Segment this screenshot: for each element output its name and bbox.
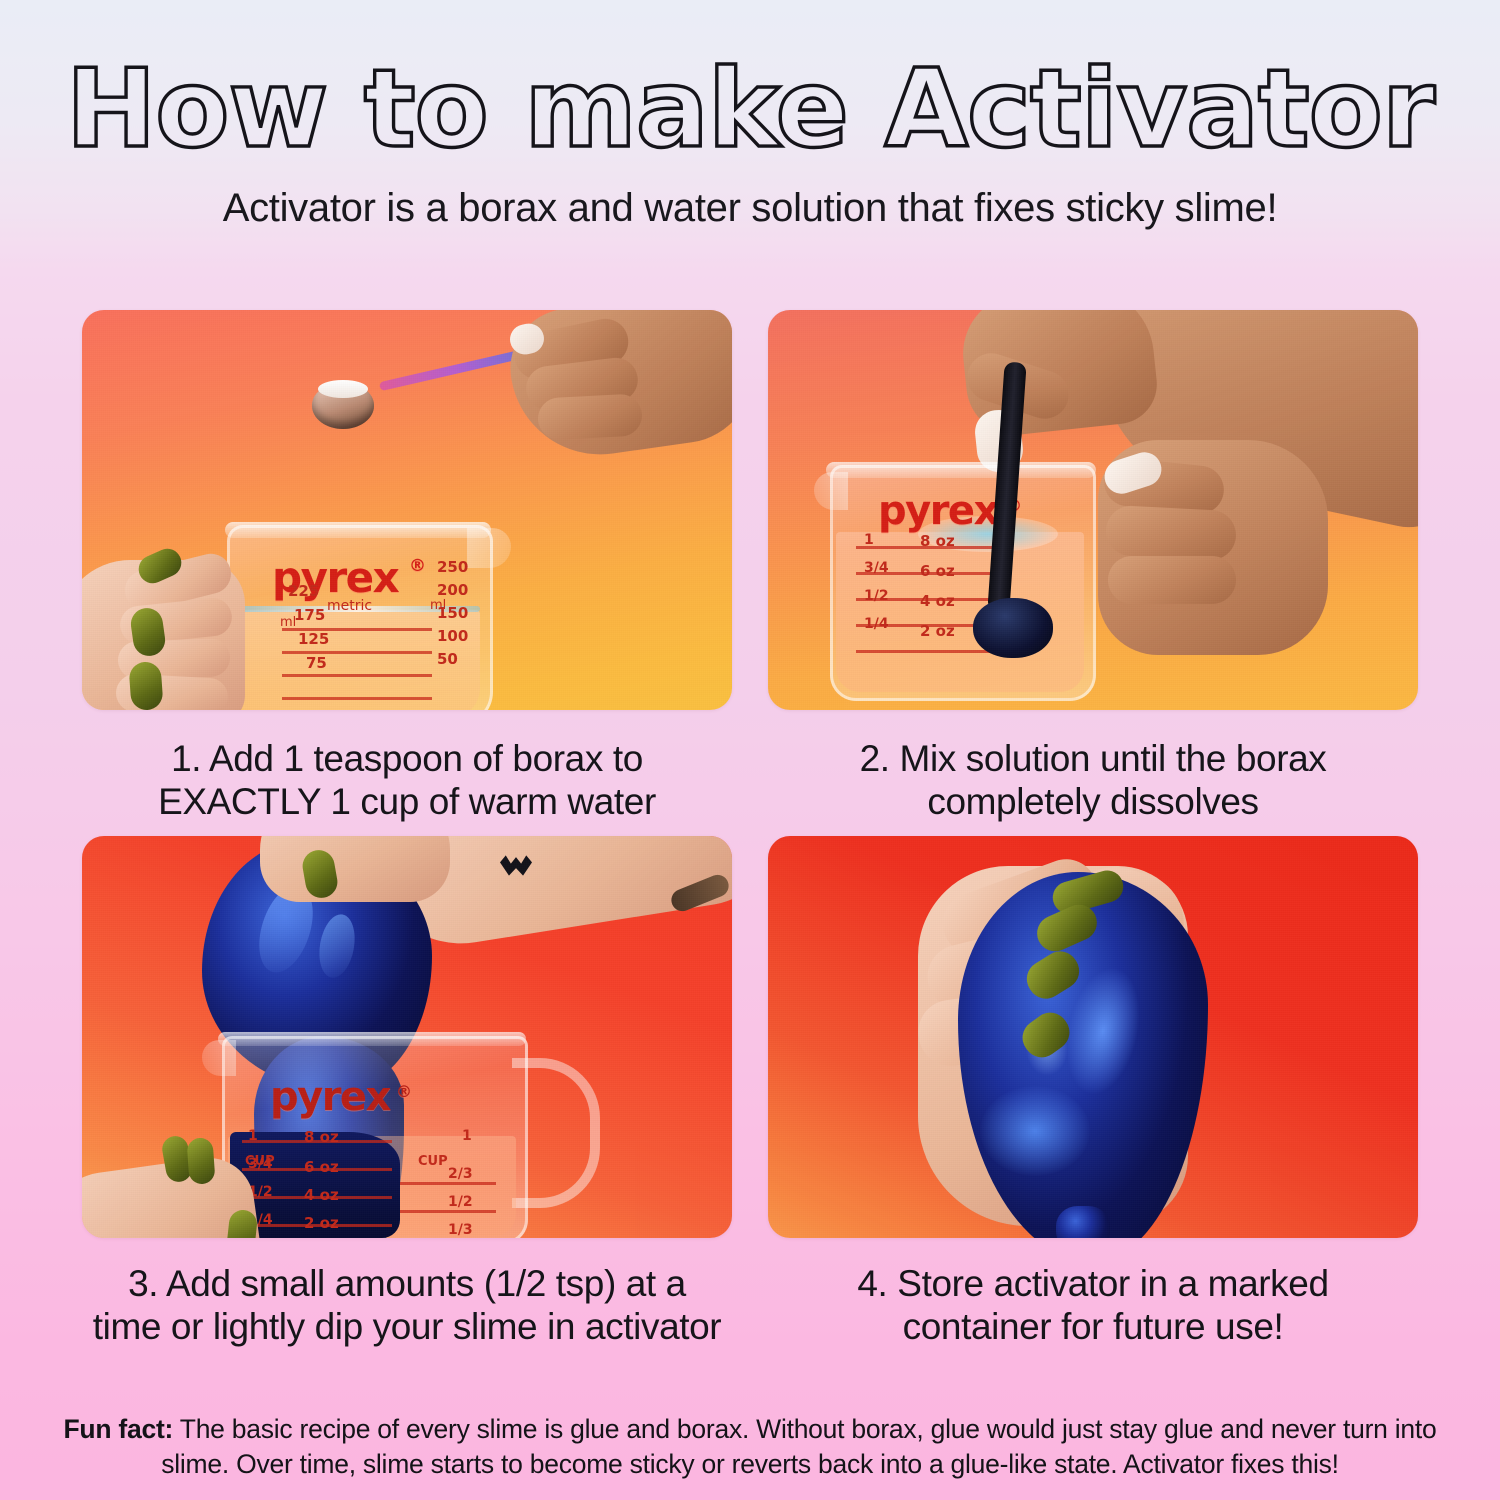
tick-mark	[282, 651, 432, 654]
step-3-caption-line-1: 3. Add small amounts (1/2 tsp) at a	[128, 1263, 686, 1304]
tick-mark	[400, 1182, 496, 1185]
tick-value-mirrored: 1	[248, 1128, 258, 1144]
finger-3	[537, 393, 643, 440]
cup-handle	[512, 1058, 600, 1208]
header: How to make Activator Activator is a bor…	[0, 0, 1500, 231]
tick-value-right: 1/3	[448, 1222, 473, 1238]
steps-grid: pyrex ® metric ml ml 250 200 150 100 50 …	[82, 310, 1418, 1360]
tick-value-mirrored: 3/4	[864, 560, 889, 576]
knuckle-3	[1108, 556, 1236, 604]
step-1-caption-line-2: EXACTLY 1 cup of warm water	[158, 781, 656, 822]
knuckle-2	[1105, 505, 1237, 562]
tick-value: 150	[437, 604, 468, 622]
tick-mark	[400, 1210, 496, 1213]
pyrex-registered-mark: ®	[409, 556, 425, 576]
tick-value: 4 oz	[920, 592, 955, 610]
step-2-caption-line-2: completely dissolves	[927, 781, 1258, 822]
pyrex-logo: pyrex	[878, 488, 998, 534]
step-3-caption-line-2: time or lightly dip your slime in activa…	[93, 1306, 721, 1347]
tick-value-mirrored: 175	[294, 606, 325, 624]
step-4-caption-line-1: 4. Store activator in a marked	[857, 1263, 1328, 1304]
step-2-caption: 2. Mix solution until the borax complete…	[768, 710, 1418, 836]
cup-rim	[826, 462, 1096, 478]
tick-value: 6 oz	[304, 1158, 339, 1176]
fingernail-green	[128, 661, 163, 710]
scale-label-metric: metric	[327, 598, 372, 614]
tick-value: 8 oz	[304, 1128, 339, 1146]
tick-value: 6 oz	[920, 562, 955, 580]
measuring-spoon-bowl	[973, 598, 1053, 658]
step-3: pyrex ® CUP CUP 8 oz 6 oz 4 oz 2 oz 1 3/…	[82, 836, 732, 1361]
tick-value-mirrored: 125	[298, 630, 329, 648]
tick-value: 100	[437, 627, 468, 645]
cup-label-right: CUP	[418, 1154, 448, 1169]
step-4: 4. Store activator in a marked container…	[768, 836, 1418, 1361]
tick-mark	[856, 650, 1006, 653]
tick-mark	[282, 697, 432, 700]
cup-rim	[225, 522, 491, 538]
tick-value-mirrored: 1/4	[864, 616, 889, 632]
tick-value-right: 2/3	[448, 1166, 473, 1182]
infographic-page: How to make Activator Activator is a bor…	[0, 0, 1500, 1500]
tick-value-right: 1	[462, 1128, 472, 1144]
tick-value-mirrored: 1	[864, 532, 874, 548]
tick-value-right: 1/2	[448, 1194, 473, 1210]
tick-value: 4 oz	[304, 1186, 339, 1204]
slime-tail	[1056, 1206, 1110, 1238]
tick-value: 2 oz	[304, 1214, 339, 1232]
step-1: pyrex ® metric ml ml 250 200 150 100 50 …	[82, 310, 732, 836]
cup-rim	[218, 1032, 526, 1046]
page-title: How to make Activator	[0, 0, 1500, 164]
step-4-photo	[768, 836, 1418, 1238]
tick-value-mirrored: 75	[306, 654, 327, 672]
tick-value: 2 oz	[920, 622, 955, 640]
pyrex-registered-mark: ®	[396, 1082, 411, 1101]
tick-mark	[282, 674, 432, 677]
step-1-photo: pyrex ® metric ml ml 250 200 150 100 50 …	[82, 310, 732, 710]
page-subtitle: Activator is a borax and water solution …	[0, 164, 1500, 231]
step-3-photo: pyrex ® CUP CUP 8 oz 6 oz 4 oz 2 oz 1 3/…	[82, 836, 732, 1238]
tick-value: 50	[437, 650, 458, 668]
step-2: pyrex ® 8 oz 6 oz 4 oz 2 oz 1 3/4 1/2 1/…	[768, 310, 1418, 836]
step-1-caption-line-1: 1. Add 1 teaspoon of borax to	[171, 738, 643, 779]
step-2-caption-line-1: 2. Mix solution until the borax	[860, 738, 1327, 779]
footer: Fun fact: The basic recipe of every slim…	[0, 1412, 1500, 1500]
pyrex-logo: pyrex	[270, 1074, 390, 1120]
step-4-caption: 4. Store activator in a marked container…	[768, 1238, 1418, 1361]
fun-fact-label: Fun fact:	[64, 1414, 174, 1444]
fingernail-green	[186, 1137, 215, 1185]
step-1-caption: 1. Add 1 teaspoon of borax to EXACTLY 1 …	[82, 710, 732, 836]
tick-value: 8 oz	[920, 532, 955, 550]
fun-fact-text: The basic recipe of every slime is glue …	[161, 1414, 1436, 1479]
step-3-caption: 3. Add small amounts (1/2 tsp) at a time…	[82, 1238, 732, 1361]
hand-top	[260, 836, 450, 902]
tick-value-mirrored: 3/4	[248, 1156, 273, 1172]
tick-value-mirrored: 1/2	[864, 588, 889, 604]
step-4-caption-line-2: container for future use!	[903, 1306, 1284, 1347]
slime-highlight	[980, 1086, 1090, 1176]
tick-value: 250	[437, 558, 468, 576]
borax-powder	[318, 380, 368, 398]
fun-fact: Fun fact: The basic recipe of every slim…	[40, 1412, 1460, 1482]
tick-value: 200	[437, 581, 468, 599]
step-2-photo: pyrex ® 8 oz 6 oz 4 oz 2 oz 1 3/4 1/2 1/…	[768, 310, 1418, 710]
tick-value-mirrored: 225	[288, 582, 319, 600]
